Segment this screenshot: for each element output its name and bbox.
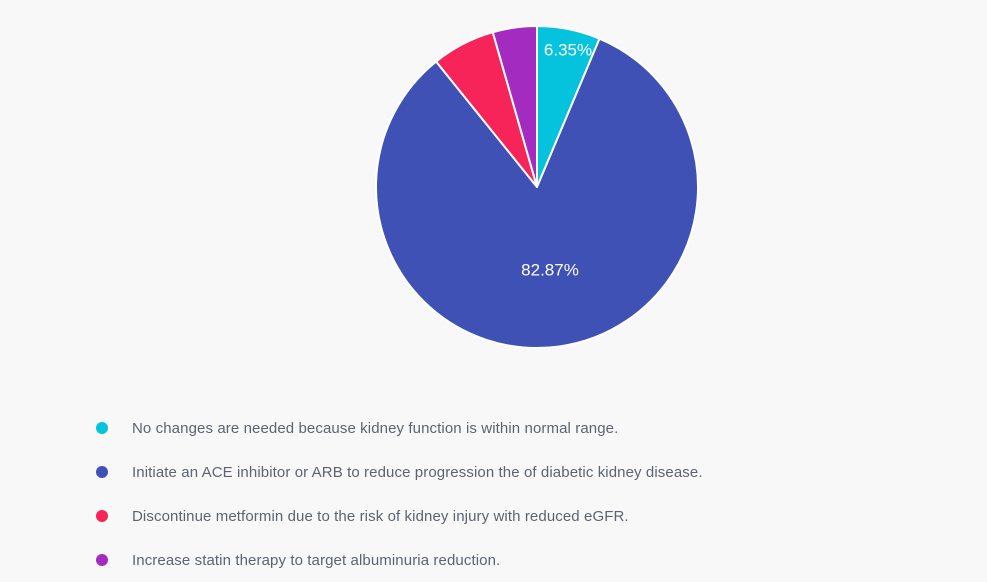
legend-item-label: Initiate an ACE inhibitor or ARB to redu… (132, 464, 703, 481)
pie-slice-value-label: 6.35% (544, 40, 592, 59)
legend-color-swatch-icon (96, 466, 108, 478)
legend-color-swatch-icon (96, 422, 108, 434)
legend-item[interactable]: Initiate an ACE inhibitor or ARB to redu… (96, 450, 956, 494)
pie-slice-value-label: 82.87% (521, 260, 579, 279)
legend-item-label: Increase statin therapy to target albumi… (132, 552, 500, 569)
legend-color-swatch-icon (96, 554, 108, 566)
legend-item-label: Discontinue metformin due to the risk of… (132, 508, 629, 525)
legend-item[interactable]: Discontinue metformin due to the risk of… (96, 494, 956, 538)
legend-item-label: No changes are needed because kidney fun… (132, 420, 618, 437)
legend-item[interactable]: No changes are needed because kidney fun… (96, 406, 956, 450)
pie-chart-plot-area: 6.35%82.87% (0, 0, 987, 376)
pie-chart-svg: 6.35%82.87% (0, 0, 987, 376)
chart-legend: No changes are needed because kidney fun… (96, 406, 956, 582)
legend-color-swatch-icon (96, 510, 108, 522)
legend-item[interactable]: Increase statin therapy to target albumi… (96, 538, 956, 582)
pie-chart-widget: 6.35%82.87% No changes are needed becaus… (0, 0, 987, 576)
pie-slices-group (376, 26, 698, 348)
